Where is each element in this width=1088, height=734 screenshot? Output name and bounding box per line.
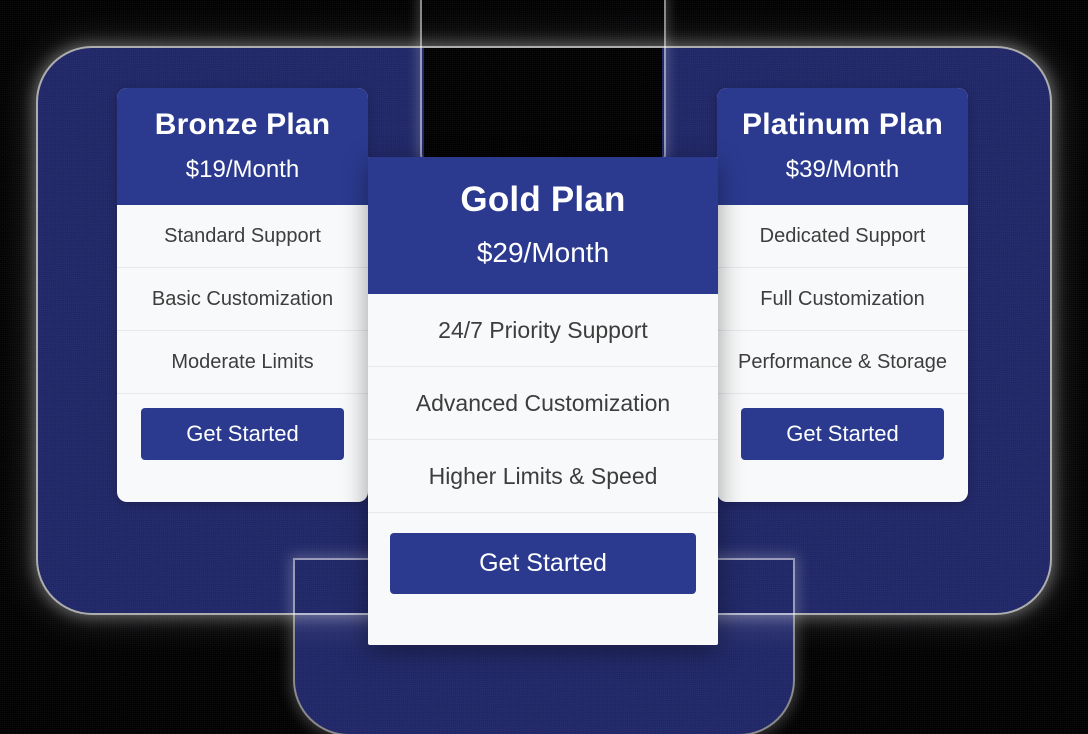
feature-list-platinum: Dedicated Support Full Customization Per… [717,205,968,394]
feature-row: Advanced Customization [368,367,718,440]
plan-title-bronze: Bronze Plan [127,108,358,141]
card-header-platinum: Platinum Plan $39/Month [717,88,968,205]
get-started-button-bronze[interactable]: Get Started [141,408,344,460]
feature-row: Performance & Storage [717,331,968,394]
feature-row: Full Customization [717,268,968,331]
pricing-card-bronze[interactable]: Bronze Plan $19/Month Standard Support B… [117,88,368,502]
cta-wrap-gold: Get Started [368,513,718,620]
pricing-card-gold[interactable]: Gold Plan $29/Month 24/7 Priority Suppor… [368,157,718,645]
feature-row: Standard Support [117,205,368,268]
feature-row: Higher Limits & Speed [368,440,718,513]
cta-wrap-bronze: Get Started [117,394,368,478]
cta-wrap-platinum: Get Started [717,394,968,478]
feature-list-gold: 24/7 Priority Support Advanced Customiza… [368,294,718,513]
feature-list-bronze: Standard Support Basic Customization Mod… [117,205,368,394]
pricing-page: Bronze Plan $19/Month Standard Support B… [0,0,1088,734]
panel-notch [424,0,662,161]
feature-row: Moderate Limits [117,331,368,394]
get-started-button-gold[interactable]: Get Started [390,533,696,594]
feature-row: Basic Customization [117,268,368,331]
plan-price-bronze: $19/Month [127,157,358,183]
plan-title-gold: Gold Plan [378,181,708,220]
plan-title-platinum: Platinum Plan [727,108,958,141]
get-started-button-platinum[interactable]: Get Started [741,408,944,460]
card-header-bronze: Bronze Plan $19/Month [117,88,368,205]
plan-price-gold: $29/Month [378,238,708,269]
feature-row: 24/7 Priority Support [368,294,718,367]
pricing-card-platinum[interactable]: Platinum Plan $39/Month Dedicated Suppor… [717,88,968,502]
plan-price-platinum: $39/Month [727,157,958,183]
feature-row: Dedicated Support [717,205,968,268]
card-header-gold: Gold Plan $29/Month [368,157,718,294]
